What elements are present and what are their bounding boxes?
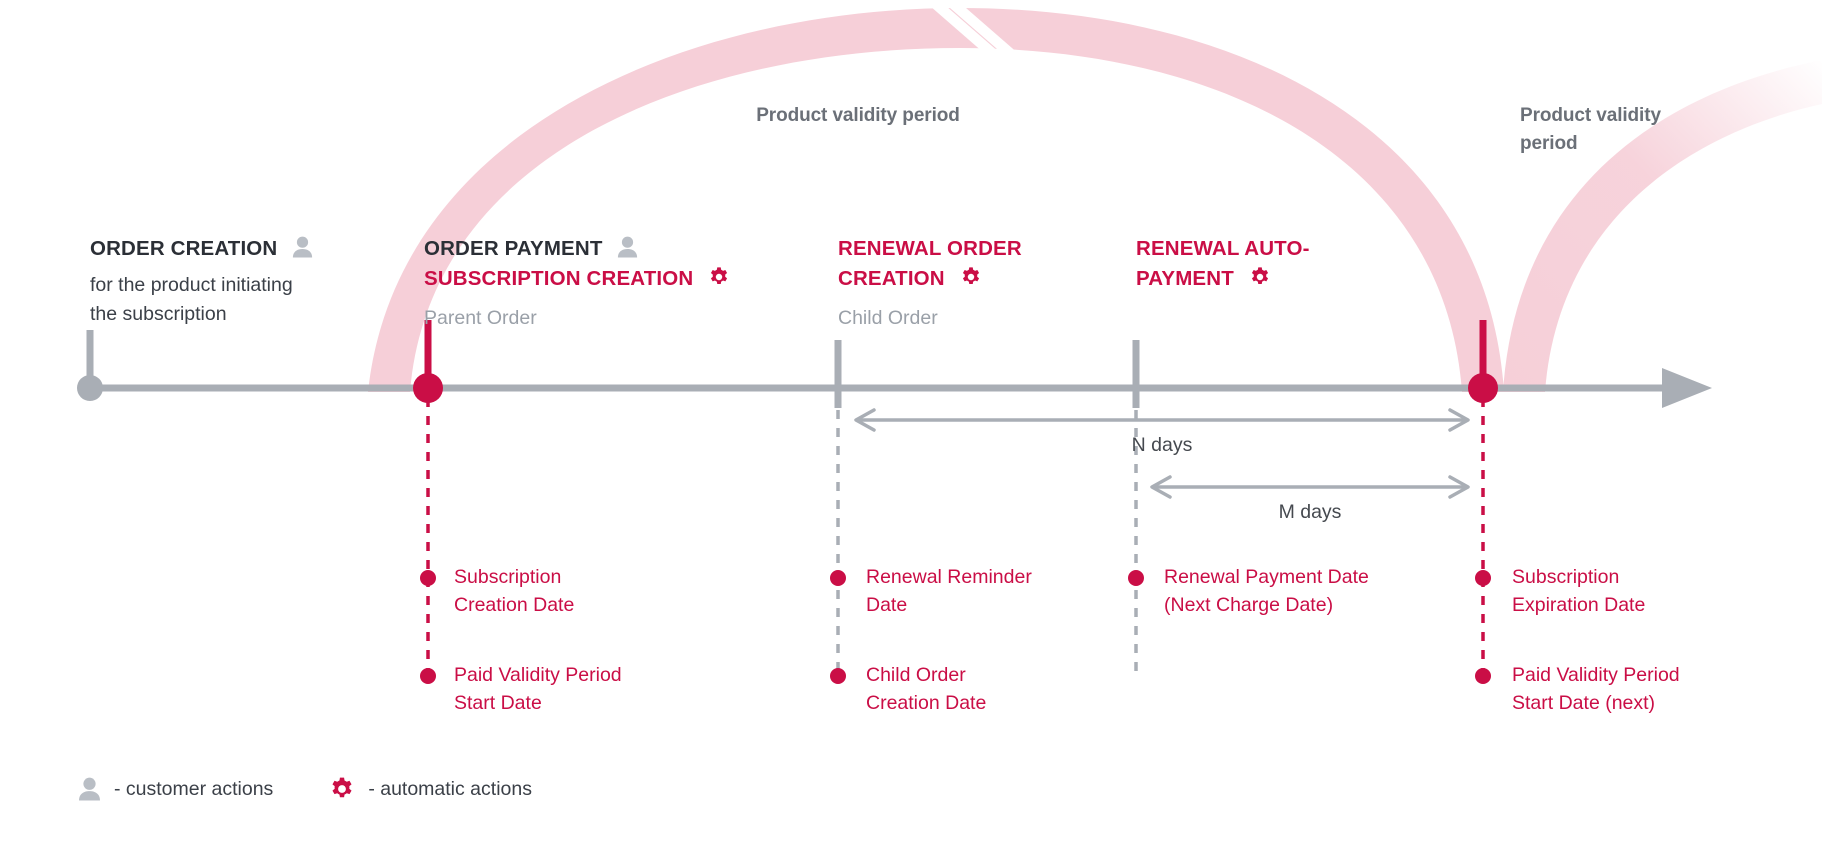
arc-caption-product-validity-period: Product validity period: [718, 102, 998, 130]
date-line-1: Renewal Reminder: [866, 564, 1126, 592]
renewal-order-creation-line-1: RENEWAL ORDER: [838, 236, 1118, 262]
renewal-auto-payment-line-2-wrap: PAYMENT: [1136, 266, 1416, 292]
date-line-1: Child Order: [866, 662, 1126, 690]
milestone-renewal-order-creation-title: RENEWAL ORDER CREATION: [838, 236, 1118, 292]
span-label-m-days: M days: [1210, 501, 1410, 524]
legend: - customer actions - automatic actions: [78, 776, 532, 802]
person-icon: [78, 777, 101, 801]
milestone-renewal-auto-payment: RENEWAL AUTO- PAYMENT: [1136, 236, 1416, 292]
milestone-order-creation: ORDER CREATION for the product initiatin…: [90, 236, 390, 328]
gear-icon: [329, 776, 355, 802]
date-connector-lines: [428, 398, 1483, 676]
date-line-2: Creation Date: [866, 690, 1126, 718]
milestone-order-payment-order-label: Parent Order: [424, 306, 824, 331]
milestone-subscription-creation-title: SUBSCRIPTION CREATION: [424, 266, 824, 292]
person-icon: [292, 236, 313, 258]
legend-label-automatic-actions: - automatic actions: [368, 778, 532, 801]
date-line-2: Start Date: [454, 690, 734, 718]
span-label-n-days: N days: [1062, 434, 1262, 457]
subscription-lifecycle-diagram: Product validity period Product validity…: [0, 0, 1822, 844]
legend-item-customer-actions: - customer actions: [78, 777, 273, 801]
milestone-order-payment-title: ORDER PAYMENT: [424, 236, 824, 262]
renewal-order-creation-line-2-wrap: CREATION: [838, 266, 1118, 292]
renewal-auto-payment-line-1: RENEWAL AUTO-: [1136, 236, 1416, 262]
date-line-1: Subscription: [454, 564, 714, 592]
arc-caption-next-product-validity-period: Product validity period: [1520, 102, 1720, 157]
date-label-subscription-creation-date: Subscription Creation Date: [454, 564, 714, 619]
gear-icon: [960, 266, 982, 288]
date-label-renewal-payment-date: Renewal Payment Date (Next Charge Date): [1164, 564, 1464, 619]
date-line-1: Renewal Payment Date: [1164, 564, 1464, 592]
subtitle-line-1: for the product initiating: [90, 271, 390, 299]
milestone-order-creation-title: ORDER CREATION: [90, 236, 390, 262]
date-label-paid-validity-start-date-next: Paid Validity Period Start Date (next): [1512, 662, 1812, 717]
date-label-paid-validity-start-date: Paid Validity Period Start Date: [454, 662, 734, 717]
gear-icon: [1249, 266, 1271, 288]
date-label-child-order-creation-date: Child Order Creation Date: [866, 662, 1126, 717]
date-label-renewal-reminder-date: Renewal Reminder Date: [866, 564, 1126, 619]
date-line-2: Expiration Date: [1512, 592, 1792, 620]
milestone-order-payment: ORDER PAYMENT SUBSCRIPTION CREATION Pare…: [424, 236, 824, 331]
date-line-1: Subscription: [1512, 564, 1792, 592]
person-icon: [617, 236, 638, 258]
milestone-renewal-order-creation: RENEWAL ORDER CREATION Child Order: [838, 236, 1118, 331]
n-days-measure: [856, 410, 1468, 430]
date-line-1: Paid Validity Period: [1512, 662, 1812, 690]
m-days-measure: [1152, 477, 1468, 497]
gear-icon: [708, 266, 730, 288]
date-line-2: Creation Date: [454, 592, 714, 620]
subtitle-line-2: the subscription: [90, 300, 390, 328]
marker-order-creation: [77, 375, 103, 401]
renewal-order-creation-line-2: CREATION: [838, 267, 945, 290]
timeline-axis: [78, 368, 1712, 408]
date-line-1: Paid Validity Period: [454, 662, 734, 690]
milestone-renewal-order-creation-order-label: Child Order: [838, 306, 1118, 331]
date-line-2: Start Date (next): [1512, 690, 1812, 718]
date-line-2: (Next Charge Date): [1164, 592, 1464, 620]
axis-milestone-markers: [77, 320, 1498, 408]
milestone-subscription-creation-title-text: SUBSCRIPTION CREATION: [424, 267, 693, 290]
date-label-subscription-expiration-date: Subscription Expiration Date: [1512, 564, 1792, 619]
marker-order-payment: [413, 373, 443, 403]
legend-label-customer-actions: - customer actions: [114, 778, 273, 801]
milestone-order-creation-subtitle: for the product initiating the subscript…: [90, 271, 390, 328]
milestone-order-creation-title-text: ORDER CREATION: [90, 237, 277, 260]
product-validity-arc: [368, 6, 1504, 392]
milestone-renewal-auto-payment-title: RENEWAL AUTO- PAYMENT: [1136, 236, 1416, 292]
legend-item-automatic-actions: - automatic actions: [329, 776, 532, 802]
renewal-auto-payment-line-2: PAYMENT: [1136, 267, 1234, 290]
milestone-order-payment-title-text: ORDER PAYMENT: [424, 237, 603, 260]
date-line-2: Date: [866, 592, 1126, 620]
marker-subscription-expiration: [1468, 373, 1498, 403]
